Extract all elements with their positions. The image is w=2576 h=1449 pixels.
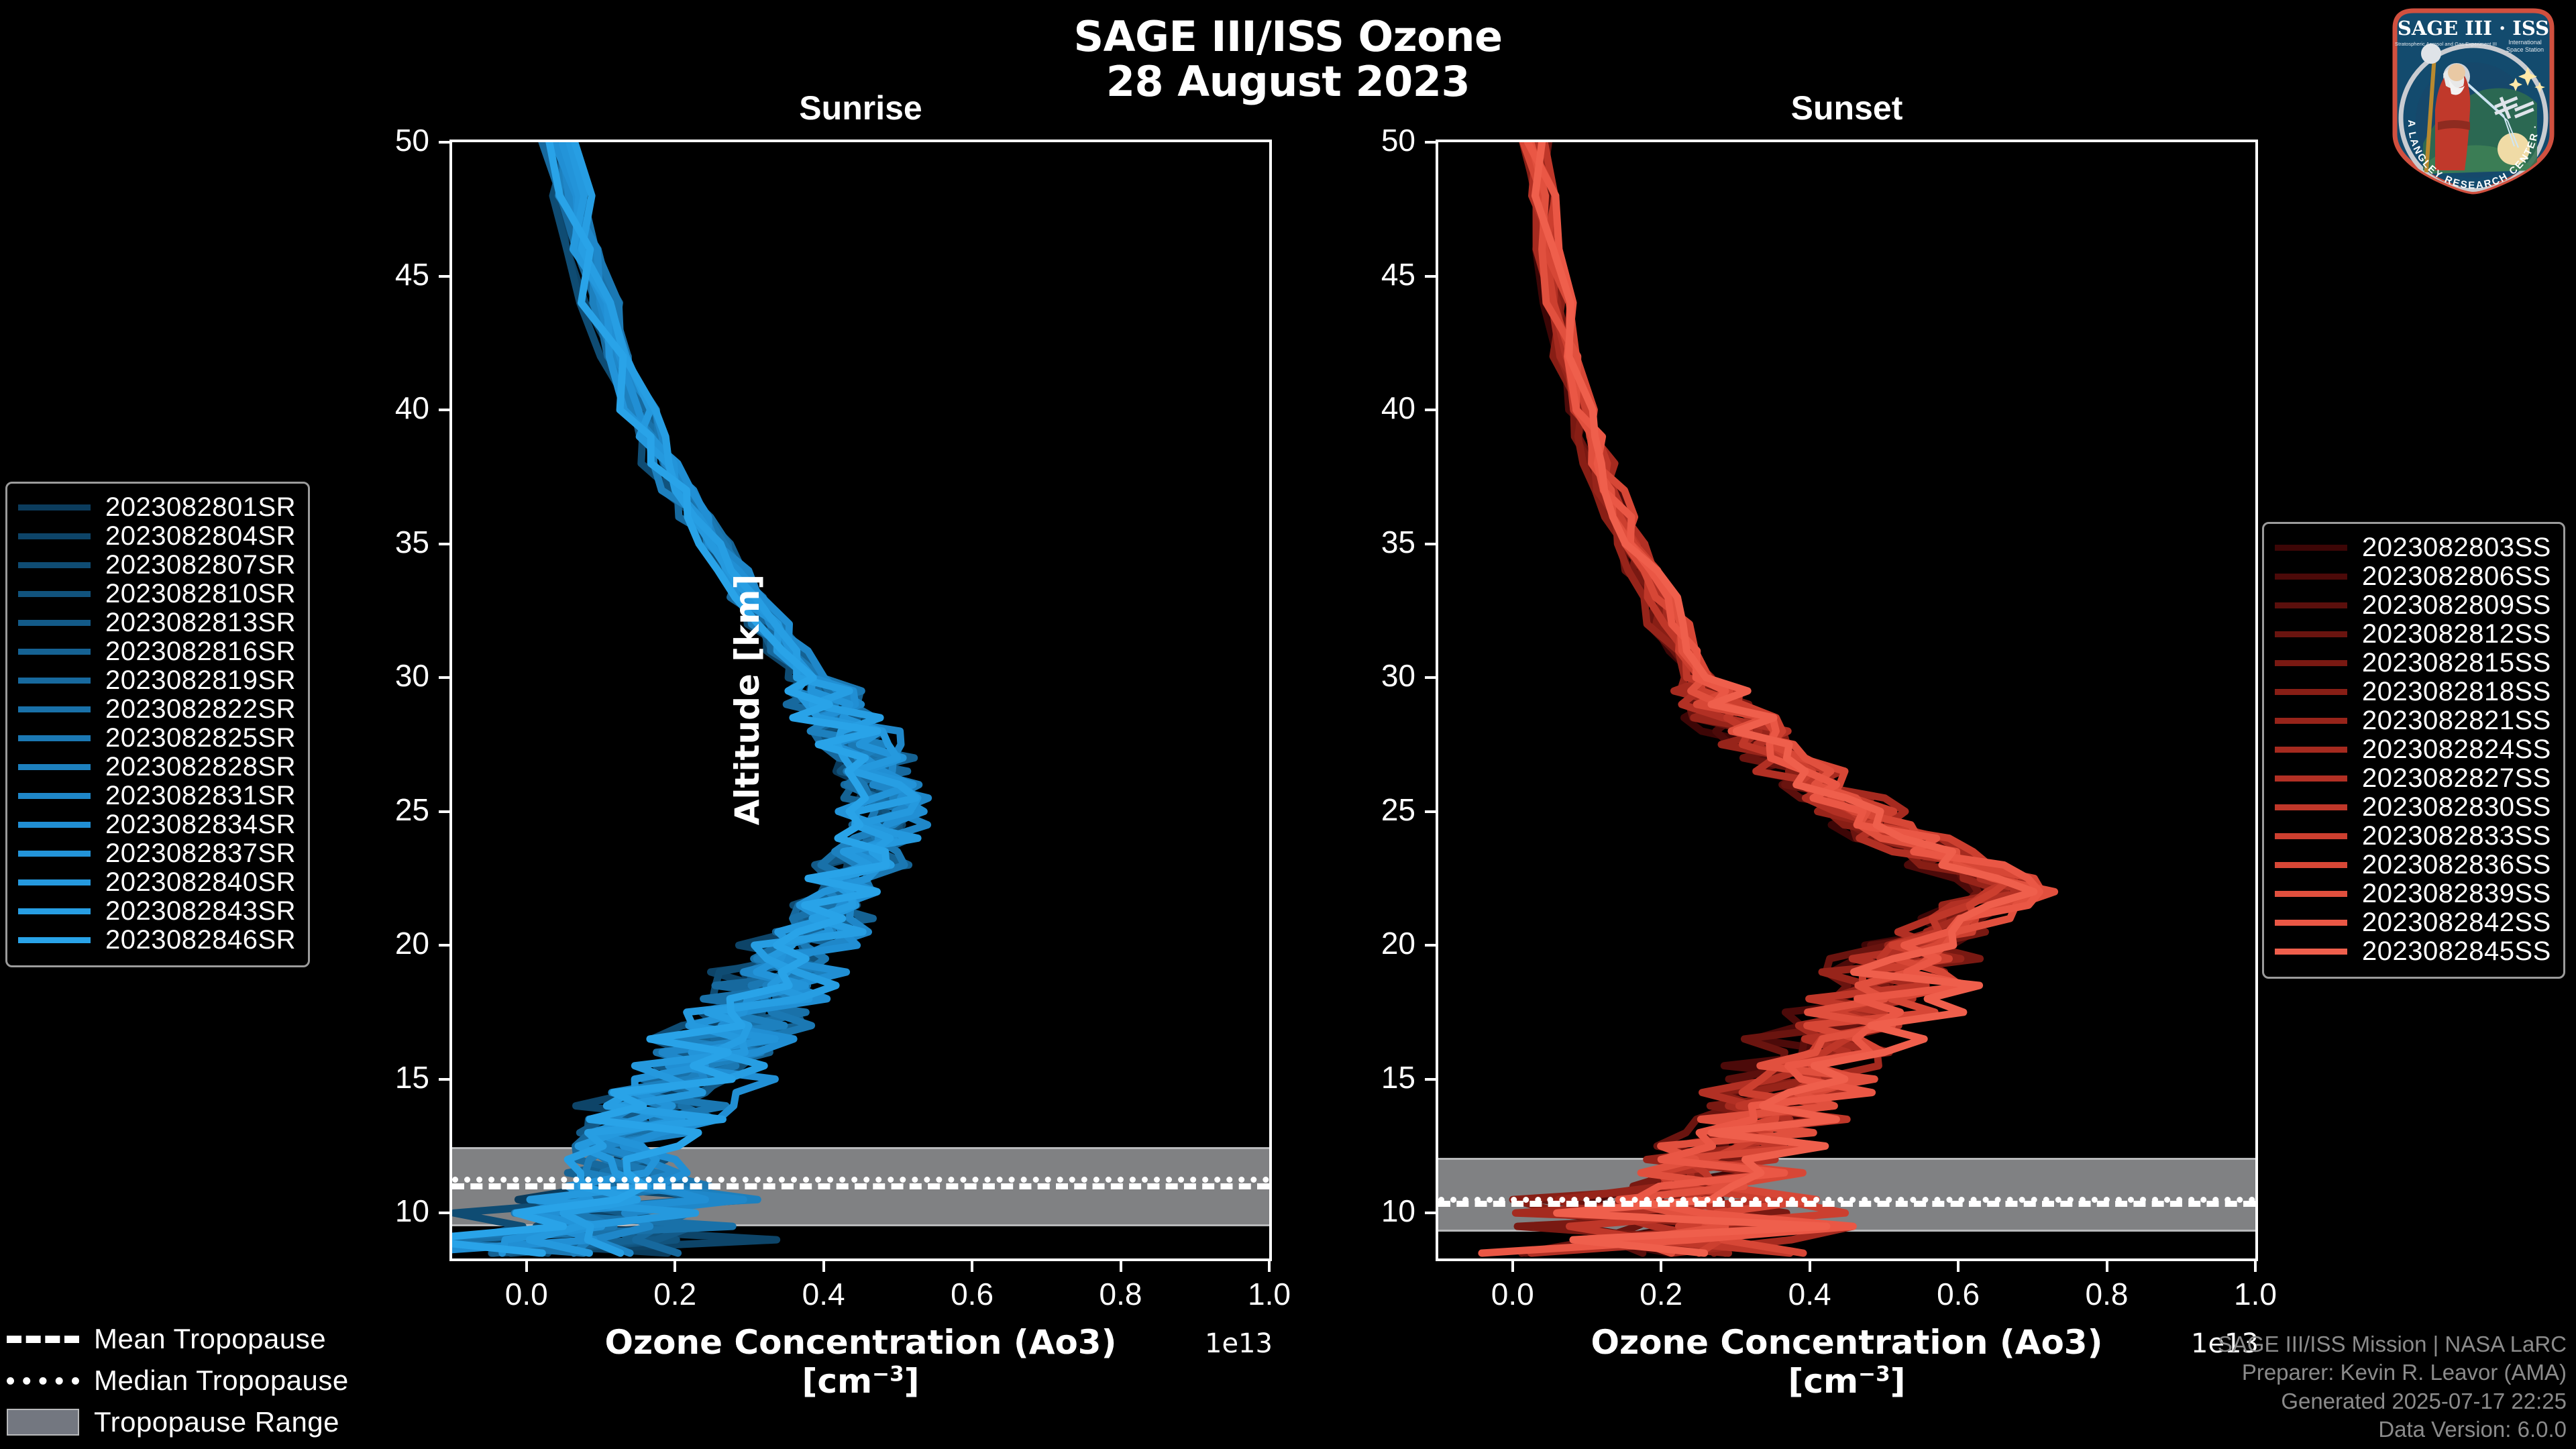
legend-color-swatch [18,937,91,943]
legend-label: 2023082842SS [2362,908,2551,938]
figure-title-line1: SAGE III/ISS Ozone [1073,12,1502,61]
legend-item[interactable]: 2023082815SS [2275,649,2551,678]
legend-item[interactable]: 2023082834SR [18,810,296,839]
x-tick-mark [1120,1261,1122,1272]
x-axis-label-line1: Ozone Concentration (Ao3) [1436,1323,2258,1362]
y-tick-mark [439,141,449,144]
legend-label: 2023082812SS [2362,619,2551,649]
legend-label: 2023082839SS [2362,879,2551,909]
legend-color-swatch [2275,833,2347,839]
legend-label: 2023082807SR [105,550,296,580]
x-axis-label-sunrise: Ozone Concentration (Ao3) [cm−3] [449,1323,1272,1401]
legend-item[interactable]: 2023082813SR [18,608,296,637]
x-tick-mark [1511,1261,1514,1272]
legend-label: 2023082846SR [105,925,296,955]
logo-subtitle-left: Stratospheric Aerosol and Gas Experiment… [2395,41,2497,47]
x-tick-label: 0.6 [918,1276,1026,1312]
y-tick-mark [1425,141,1436,144]
y-tick-label: 35 [1342,524,1415,560]
legend-item[interactable]: 2023082833SS [2275,822,2551,851]
legend-item-median-tropopause: Median Tropopause [7,1360,349,1401]
legend-item[interactable]: 2023082840SR [18,868,296,897]
x-tick-label: 0.8 [1067,1276,1175,1312]
legend-item-mean-tropopause: Mean Tropopause [7,1318,349,1360]
y-tick-mark [1425,1212,1436,1214]
subplot-title-sunset: Sunset [1436,89,2258,127]
x-tick-label: 0.4 [1756,1276,1864,1312]
legend-label: 2023082828SR [105,752,296,782]
legend-color-swatch [18,649,91,655]
x-axis-label-line2: [cm−3] [1436,1362,2258,1401]
y-tick-label: 10 [1342,1193,1415,1229]
y-tick-label: 15 [356,1059,429,1095]
legend-label: 2023082834SR [105,810,296,840]
legend-item[interactable]: 2023082816SR [18,637,296,666]
x-axis-label-sunset: Ozone Concentration (Ao3) [cm−3] [1436,1323,2258,1401]
logo-subtitle-right-2: Space Station [2506,46,2544,53]
x-tick-mark [2254,1261,2257,1272]
y-tick-label: 25 [356,792,429,828]
x-tick-label: 1.0 [1216,1276,1323,1312]
x-tick-mark [1809,1261,1811,1272]
y-tick-label: 30 [356,657,429,694]
x-tick-label: 0.4 [770,1276,877,1312]
legend-label: 2023082830SS [2362,792,2551,822]
legend-color-swatch [2275,574,2347,580]
legend-color-swatch [18,678,91,684]
x-tick-mark [1957,1261,1960,1272]
legend-color-swatch [2275,602,2347,608]
median-tropopause-line [1438,1197,2255,1203]
legend-item[interactable]: 2023082831SR [18,782,296,810]
legend-label: 2023082804SR [105,521,296,551]
legend-label: 2023082803SS [2362,533,2551,563]
legend-label-median-tropopause: Median Tropopause [94,1364,349,1397]
legend-item[interactable]: 2023082842SS [2275,908,2551,937]
legend-color-swatch [18,822,91,828]
footer-metadata: SAGE III/ISS Mission | NASA LaRC Prepare… [2218,1330,2567,1444]
legend-label-tropopause-range: Tropopause Range [94,1406,339,1438]
legend-label: 2023082831SR [105,781,296,811]
x-axis-offset-text-sunrise: 1e13 [1205,1328,1273,1359]
legend-item[interactable]: 2023082804SR [18,522,296,551]
ozone-profile-line [1540,142,2006,1253]
legend-item[interactable]: 2023082807SR [18,551,296,580]
y-tick-mark [1425,676,1436,679]
y-tick-label: 40 [356,390,429,426]
footer-line-generated: Generated 2025-07-17 22:25 [2218,1387,2567,1415]
x-tick-label: 0.2 [1607,1276,1715,1312]
legend-label: 2023082822SR [105,694,296,724]
legend-item[interactable]: 2023082839SS [2275,879,2551,908]
y-tick-mark [439,810,449,813]
figure-root: SAGE III/ISS Ozone 28 August 2023 [0,0,2576,1449]
legend-item[interactable]: 2023082837SR [18,839,296,868]
legend-color-swatch [2275,775,2347,782]
legend-color-swatch [18,706,91,712]
x-tick-mark [2106,1261,2108,1272]
median-tropopause-line [452,1177,1269,1183]
y-tick-mark [439,275,449,278]
logo-title: SAGE III · ISS [2398,17,2549,40]
dashed-line-icon [7,1336,79,1343]
legend-item[interactable]: 2023082836SS [2275,851,2551,879]
y-tick-label: 45 [356,256,429,292]
legend-item[interactable]: 2023082806SS [2275,562,2551,591]
legend-color-swatch [2275,660,2347,666]
legend-item[interactable]: 2023082846SR [18,926,296,955]
y-tick-mark [439,1078,449,1081]
legend-item[interactable]: 2023082818SS [2275,678,2551,706]
legend-label: 2023082827SS [2362,763,2551,794]
y-tick-label: 15 [1342,1059,1415,1095]
legend-color-swatch [18,879,91,885]
legend-label: 2023082845SS [2362,936,2551,967]
legend-item[interactable]: 2023082801SR [18,493,296,522]
legend-label: 2023082843SR [105,896,296,926]
x-tick-label: 0.8 [2053,1276,2161,1312]
y-tick-label: 25 [1342,792,1415,828]
legend-item[interactable]: 2023082830SS [2275,793,2551,822]
legend-label: 2023082819SR [105,665,296,696]
logo-subtitle-right-1: International [2508,39,2542,46]
legend-item[interactable]: 2023082810SR [18,580,296,608]
legend-color-swatch [18,533,91,539]
legend-color-swatch [2275,804,2347,810]
x-tick-label: 0.2 [621,1276,729,1312]
legend-label: 2023082824SS [2362,735,2551,765]
plot-area-sunrise[interactable] [449,140,1272,1261]
footer-line-preparer: Preparer: Kevin R. Leavor (AMA) [2218,1358,2567,1387]
x-tick-label: 0.0 [473,1276,580,1312]
x-axis-label-line2: [cm−3] [449,1362,1272,1401]
legend-item[interactable]: 2023082809SS [2275,591,2551,620]
legend-color-swatch [2275,718,2347,724]
y-tick-mark [1425,409,1436,411]
y-tick-label: 30 [1342,657,1415,694]
legend-sunset[interactable]: 2023082803SS2023082806SS2023082809SS2023… [2262,522,2565,979]
ozone-profile-curves [452,142,1269,1258]
legend-color-swatch [18,562,91,568]
legend-color-swatch [2275,949,2347,955]
legend-label: 2023082840SR [105,867,296,898]
legend-item-tropopause-range: Tropopause Range [7,1401,349,1443]
legend-label: 2023082836SS [2362,850,2551,880]
x-tick-label: 1.0 [2202,1276,2309,1312]
y-tick-label: 40 [1342,390,1415,426]
footer-line-dataversion: Data Version: 6.0.0 [2218,1415,2567,1444]
legend-label: 2023082825SR [105,723,296,753]
x-tick-mark [822,1261,825,1272]
ozone-profile-curves [1438,142,2255,1258]
legend-color-swatch [18,908,91,914]
x-tick-mark [674,1261,676,1272]
footer-line-mission: SAGE III/ISS Mission | NASA LaRC [2218,1330,2567,1358]
y-tick-mark [439,944,449,947]
legend-label: 2023082810SR [105,579,296,609]
x-tick-mark [1268,1261,1271,1272]
y-tick-label: 50 [356,122,429,158]
x-tick-label: 0.0 [1459,1276,1566,1312]
legend-label: 2023082837SR [105,839,296,869]
legend-item[interactable]: 2023082827SS [2275,764,2551,793]
legend-color-swatch [2275,891,2347,897]
y-tick-label: 50 [1342,122,1415,158]
legend-color-swatch [18,764,91,770]
x-tick-label: 0.6 [1904,1276,2012,1312]
legend-item[interactable]: 2023082825SR [18,724,296,753]
legend-label: 2023082818SS [2362,677,2551,707]
x-axis-label-line1: Ozone Concentration (Ao3) [449,1323,1272,1362]
x-tick-mark [525,1261,528,1272]
legend-color-swatch [2275,862,2347,868]
y-tick-mark [439,676,449,679]
legend-sunrise[interactable]: 2023082801SR2023082804SR2023082807SR2023… [5,482,310,967]
legend-color-swatch [18,851,91,857]
legend-tropopause: Mean Tropopause Median Tropopause Tropop… [7,1318,349,1443]
legend-item[interactable]: 2023082803SS [2275,533,2551,562]
legend-color-swatch [18,735,91,741]
legend-label: 2023082813SR [105,608,296,638]
y-tick-mark [439,409,449,411]
legend-item[interactable]: 2023082828SR [18,753,296,782]
legend-color-swatch [2275,545,2347,551]
y-tick-mark [1425,543,1436,545]
subplot-title-sunrise: Sunrise [449,89,1272,127]
legend-item[interactable]: 2023082821SS [2275,706,2551,735]
mean-tropopause-line [452,1183,1269,1189]
legend-item[interactable]: 2023082819SR [18,666,296,695]
y-tick-label: 35 [356,524,429,560]
legend-label: 2023082806SS [2362,561,2551,592]
legend-label: 2023082816SR [105,637,296,667]
legend-item[interactable]: 2023082843SR [18,897,296,926]
y-tick-label: 20 [356,925,429,961]
legend-color-swatch [2275,747,2347,753]
legend-color-swatch [18,504,91,511]
legend-label: 2023082815SS [2362,648,2551,678]
y-tick-label: 45 [1342,256,1415,292]
y-tick-mark [1425,810,1436,813]
legend-color-swatch [2275,631,2347,637]
legend-color-swatch [18,620,91,626]
y-tick-mark [439,543,449,545]
legend-color-swatch [2275,920,2347,926]
y-tick-mark [1425,944,1436,947]
legend-label: 2023082833SS [2362,821,2551,851]
legend-label: 2023082821SS [2362,706,2551,736]
x-tick-mark [1660,1261,1662,1272]
legend-label: 2023082809SS [2362,590,2551,621]
legend-color-swatch [2275,689,2347,695]
y-tick-mark [1425,275,1436,278]
sage-iii-iss-logo-icon: SAGE III · ISS Stratospheric Aerosol and… [2376,3,2571,197]
y-tick-mark [439,1212,449,1214]
legend-label-mean-tropopause: Mean Tropopause [94,1323,326,1355]
legend-label: 2023082801SR [105,492,296,523]
y-tick-label: 20 [1342,925,1415,961]
plot-area-sunset[interactable] [1436,140,2258,1261]
legend-item[interactable]: 2023082822SR [18,695,296,724]
legend-color-swatch [18,591,91,597]
y-axis-label-sunset: Altitude [km] [728,139,767,1260]
legend-item[interactable]: 2023082812SS [2275,620,2551,649]
dotted-line-icon [7,1377,79,1385]
y-tick-label: 10 [356,1193,429,1229]
filled-box-icon [7,1409,79,1436]
legend-item[interactable]: 2023082845SS [2275,937,2551,966]
y-tick-mark [1425,1078,1436,1081]
x-tick-mark [971,1261,973,1272]
legend-item[interactable]: 2023082824SS [2275,735,2551,764]
legend-color-swatch [18,793,91,799]
